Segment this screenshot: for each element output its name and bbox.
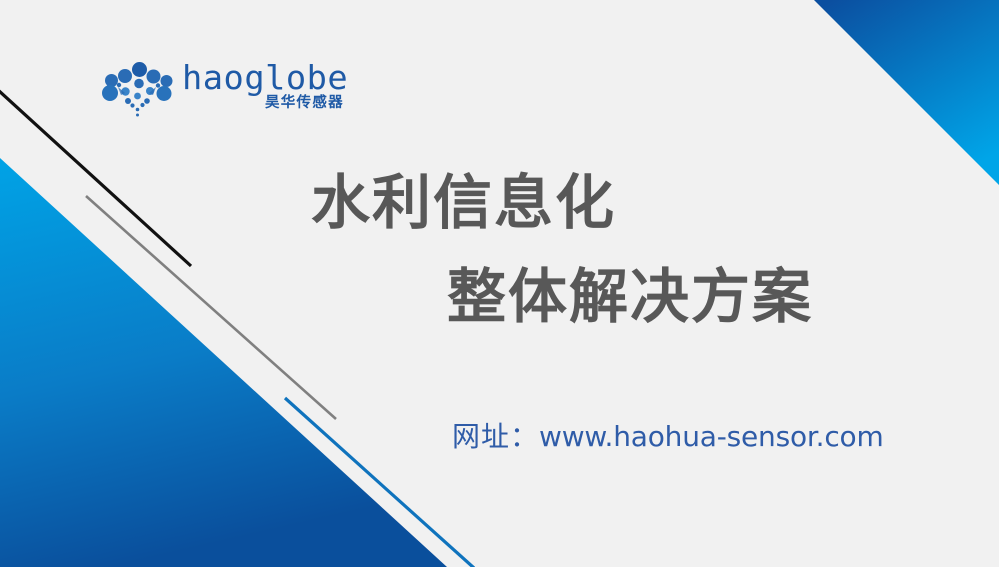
top-right-blue-triangle: [814, 0, 999, 185]
logo-brand-word: haoglobe: [182, 61, 348, 94]
presentation-slide: haoglobe 昊华传感器 水利信息化 整体解决方案 网址：www.haohu…: [0, 0, 999, 567]
logo-brand-subtitle: 昊华传感器: [265, 95, 344, 112]
left-blue-triangle: [0, 158, 447, 567]
logo-text-block: haoglobe 昊华传感器: [182, 58, 345, 112]
website-line: 网址：www.haohua-sensor.com: [452, 419, 884, 455]
website-url[interactable]: www.haohua-sensor.com: [539, 420, 884, 453]
company-logo: haoglobe 昊华传感器: [98, 58, 313, 120]
website-label: 网址：: [452, 420, 539, 453]
network-nodes-logo-mark: [98, 60, 176, 118]
